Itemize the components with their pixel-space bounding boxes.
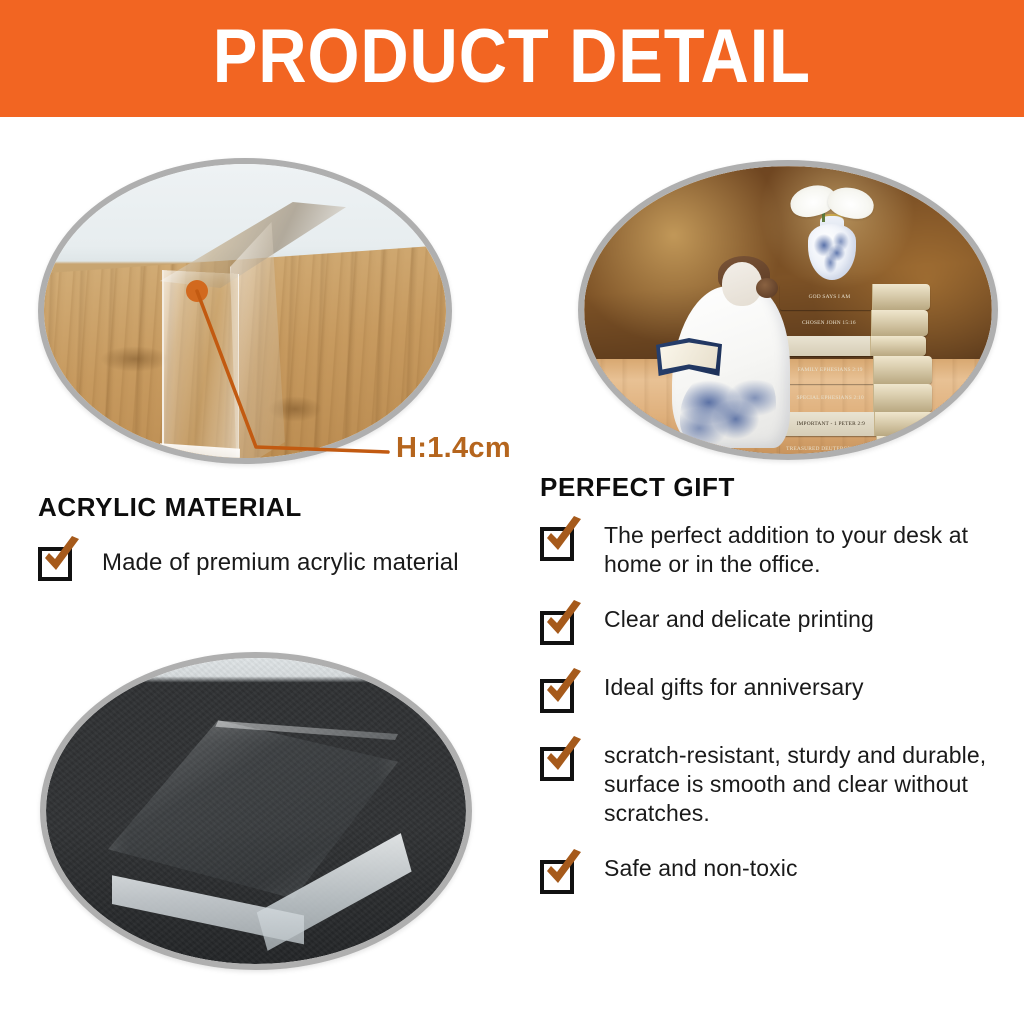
book-spine-text: IMPORTANT - 1 PETER 2:9 [783,421,879,427]
book-in-stack: TREASURED DEUTERONOMY 14:2 [780,436,936,454]
section-title-acrylic-material: ACRYLIC MATERIAL [38,492,538,523]
checkmark-icon [538,513,586,561]
acrylic-slab-front-face [162,270,239,458]
book-pages [870,336,926,356]
book-pages [872,284,930,310]
checkmark-icon [538,846,586,894]
checkmark-icon [36,533,84,581]
checkbox-checked-icon [38,543,78,583]
book-in-stack: IMPORTANT - 1 PETER 2:9 [780,412,934,436]
feature-list-perfect-gift: The perfect addition to your desk at hom… [540,521,1010,896]
feature-item: Ideal gifts for anniversary [540,673,1010,715]
section-perfect-gift: PERFECT GIFT The perfect addition to you… [540,472,1010,922]
book-spine-text: SPECIAL EPHESIANS 2:10 [783,395,877,401]
feature-item: Made of premium acrylic material [38,541,538,583]
feature-text: Clear and delicate printing [604,605,874,634]
checkmark-icon [538,597,586,645]
feature-list-acrylic-material: Made of premium acrylic material [38,541,538,583]
checkbox-checked-icon [540,523,580,563]
checkmark-icon [538,733,586,781]
checkbox-checked-icon [540,607,580,647]
book-pages [876,436,936,454]
book-pages [873,356,932,384]
feature-text: Ideal gifts for anniversary [604,673,864,702]
wood-knot [100,346,170,372]
book-in-stack: SPECIAL EPHESIANS 2:10 [780,384,932,412]
acrylic-block-photo [40,652,472,970]
figurine-hair-bun [756,278,778,298]
feature-text: Safe and non-toxic [604,854,798,883]
feature-item: scratch-resistant, sturdy and durable, s… [540,741,1010,828]
acrylic-edge-photo-inner [44,164,446,458]
feature-item: Safe and non-toxic [540,854,1010,896]
feature-item: The perfect addition to your desk at hom… [540,521,1010,579]
page-title: PRODUCT DETAIL [213,19,811,95]
acrylic-block-photo-inner [46,658,466,964]
book-in-stack [780,336,926,356]
book-spine [780,336,873,356]
section-acrylic-material: ACRYLIC MATERIAL Made of premium acrylic… [38,492,538,583]
book-pages [871,310,928,336]
acrylic-edge-photo [38,158,452,464]
book-spine-text: CHOSEN JOHN 15:16 [783,320,875,326]
book-spine-text: TREASURED DEUTERONOMY 14:2 [783,446,880,452]
figurine-photo-inner: GOD SAYS I AM CHOSEN JOHN 15:16 FAMILY E… [584,166,992,454]
book-in-stack: CHOSEN JOHN 15:16 [780,310,928,336]
book-spine-text: GOD SAYS I AM [783,294,876,300]
checkmark-icon [538,665,586,713]
book-in-stack: FAMILY EPHESIANS 2:19 [780,356,932,384]
book-pages [873,384,932,412]
page-header-banner: PRODUCT DETAIL [0,0,1024,117]
feature-text: The perfect addition to your desk at hom… [604,521,1010,579]
checkbox-checked-icon [540,856,580,896]
book-spine-text: FAMILY EPHESIANS 2:19 [783,367,877,373]
feature-text: scratch-resistant, sturdy and durable, s… [604,741,1010,828]
height-callout-label: H:1.4cm [396,432,511,465]
checkbox-checked-icon [540,675,580,715]
section-title-perfect-gift: PERFECT GIFT [540,472,1010,503]
book-pages [874,412,934,436]
feature-item: Clear and delicate printing [540,605,1010,647]
checkbox-checked-icon [540,743,580,783]
book-in-stack: GOD SAYS I AM [780,284,930,310]
feature-text: Made of premium acrylic material [102,548,459,577]
figurine-photo: GOD SAYS I AM CHOSEN JOHN 15:16 FAMILY E… [578,160,998,460]
figurine-floral-pattern [680,372,776,448]
